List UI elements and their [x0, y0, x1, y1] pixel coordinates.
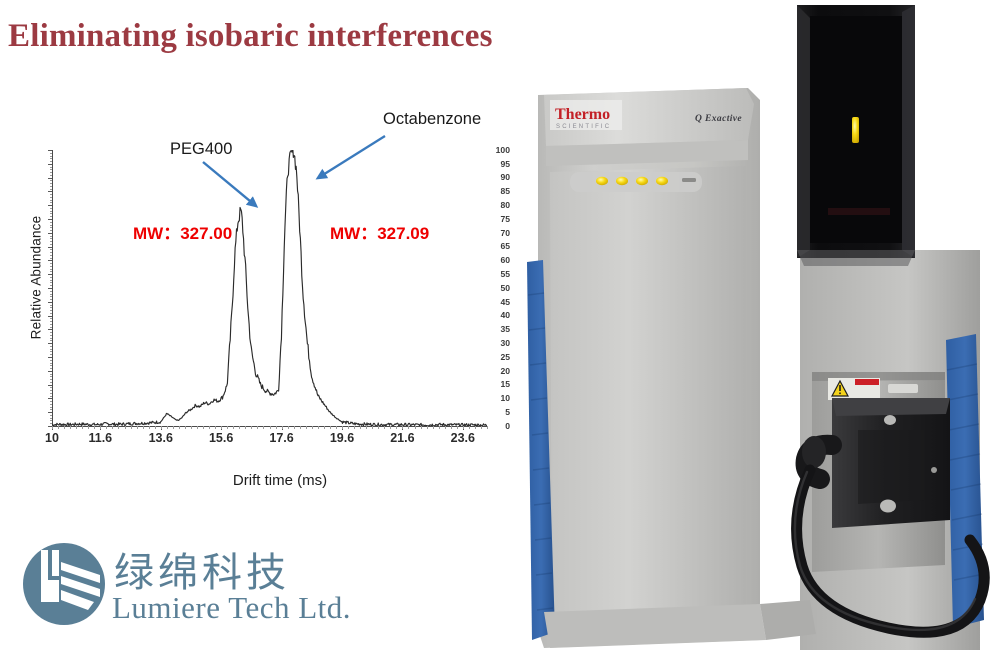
x-minor-tick	[149, 426, 150, 429]
y-tick-label: 45	[484, 298, 510, 307]
x-minor-tick	[336, 426, 337, 429]
x-minor-tick	[487, 426, 488, 429]
y-tick-label: 50	[484, 284, 510, 293]
x-tick-label: 15.6	[196, 431, 246, 445]
y-tick-label: 60	[484, 256, 510, 265]
x-minor-tick	[306, 426, 307, 429]
x-minor-tick	[402, 426, 403, 429]
x-minor-tick	[245, 426, 246, 429]
slide-canvas: Eliminating isobaric interferences Relat…	[0, 0, 1000, 650]
y-tick-label: 90	[484, 173, 510, 182]
x-minor-tick	[70, 426, 71, 429]
x-minor-tick	[197, 426, 198, 429]
x-tick-label: 17.6	[257, 431, 307, 445]
spectrum-trace	[52, 150, 487, 426]
x-minor-tick	[396, 426, 397, 429]
y-tick-label: 10	[484, 394, 510, 403]
y-tick-label: 25	[484, 353, 510, 362]
ion-source-bay	[802, 372, 950, 572]
x-minor-tick	[94, 426, 95, 429]
mw-value-octabenzone: MW：327.09	[330, 219, 429, 244]
x-minor-tick	[360, 426, 361, 429]
x-minor-tick	[125, 426, 126, 429]
x-minor-tick	[76, 426, 77, 429]
x-minor-tick	[82, 426, 83, 429]
x-minor-tick	[131, 426, 132, 429]
y-tick-label: 30	[484, 339, 510, 348]
x-minor-tick	[167, 426, 168, 429]
x-minor-tick	[233, 426, 234, 429]
tower-led-indicator	[852, 117, 859, 143]
x-minor-tick	[445, 426, 446, 429]
x-minor-tick	[143, 426, 144, 429]
x-minor-tick	[263, 426, 264, 429]
x-minor-tick	[179, 426, 180, 429]
y-tick-label: 15	[484, 380, 510, 389]
x-tick-label: 13.6	[136, 431, 186, 445]
x-minor-tick	[215, 426, 216, 429]
x-minor-tick	[318, 426, 319, 429]
x-minor-tick	[100, 426, 101, 429]
y-axis-label: Relative Abundance	[29, 198, 44, 358]
x-minor-tick	[312, 426, 313, 429]
thermo-brand-label: Thermo	[555, 107, 610, 123]
peak-label-peg400: PEG400	[170, 140, 232, 159]
x-minor-tick	[137, 426, 138, 429]
x-minor-tick	[451, 426, 452, 429]
x-minor-tick	[191, 426, 192, 429]
x-minor-tick	[221, 426, 222, 429]
x-minor-tick	[118, 426, 119, 429]
x-minor-tick	[203, 426, 204, 429]
x-minor-tick	[384, 426, 385, 429]
y-tick-label: 35	[484, 325, 510, 334]
x-minor-tick	[415, 426, 416, 429]
x-minor-tick	[282, 426, 283, 429]
x-minor-tick	[209, 426, 210, 429]
mw-value-peg400: MW：327.00	[133, 219, 232, 244]
x-minor-tick	[427, 426, 428, 429]
x-minor-tick	[288, 426, 289, 429]
y-tick-label: 75	[484, 215, 510, 224]
y-tick-label: 80	[484, 201, 510, 210]
y-tick-label: 55	[484, 270, 510, 279]
x-minor-tick	[475, 426, 476, 429]
x-minor-tick	[439, 426, 440, 429]
x-minor-tick	[251, 426, 252, 429]
x-minor-tick	[112, 426, 113, 429]
x-tick-label: 23.6	[438, 431, 488, 445]
x-minor-tick	[88, 426, 89, 429]
page-title: Eliminating isobaric interferences	[8, 18, 493, 55]
company-logo: 绿绵科技 Lumiere Tech Ltd.	[22, 538, 362, 634]
x-minor-tick	[366, 426, 367, 429]
x-tick-label: 10	[27, 431, 77, 445]
x-minor-tick	[408, 426, 409, 429]
ion-mobility-chart: Relative Abundance Drift time (ms) 05101…	[0, 120, 510, 510]
x-minor-tick	[239, 426, 240, 429]
x-minor-tick	[173, 426, 174, 429]
x-minor-tick	[481, 426, 482, 429]
y-tick-label: 70	[484, 229, 510, 238]
x-minor-tick	[294, 426, 295, 429]
x-minor-tick	[390, 426, 391, 429]
x-minor-tick	[64, 426, 65, 429]
x-tick-label: 19.6	[317, 431, 367, 445]
y-tick-label: 95	[484, 160, 510, 169]
x-minor-tick	[276, 426, 277, 429]
x-minor-tick	[227, 426, 228, 429]
x-minor-tick	[106, 426, 107, 429]
x-minor-tick	[300, 426, 301, 429]
y-tick-label: 85	[484, 187, 510, 196]
y-tick-label: 100	[484, 146, 510, 155]
x-minor-tick	[58, 426, 59, 429]
x-minor-tick	[324, 426, 325, 429]
x-minor-tick	[463, 426, 464, 429]
x-minor-tick	[161, 426, 162, 429]
y-tick-label: 5	[484, 408, 510, 417]
instrument-model-label: Q Exactive	[695, 114, 742, 124]
y-tick-label: 65	[484, 242, 510, 251]
x-minor-tick	[185, 426, 186, 429]
x-minor-tick	[469, 426, 470, 429]
x-minor-tick	[257, 426, 258, 429]
logo-english-name: Lumiere Tech Ltd.	[112, 590, 351, 626]
x-minor-tick	[378, 426, 379, 429]
peak-label-octabenzone: Octabenzone	[383, 110, 481, 129]
x-tick-label: 11.6	[75, 431, 125, 445]
lumiere-circle-mark-icon	[22, 542, 106, 626]
instrument-main-body	[538, 88, 760, 648]
x-tick-label: 21.6	[377, 431, 427, 445]
q-exactive-instrument-graphic	[510, 0, 1000, 650]
y-tick-label: 20	[484, 367, 510, 376]
x-minor-tick	[348, 426, 349, 429]
x-minor-tick	[52, 426, 53, 429]
x-axis-label: Drift time (ms)	[150, 472, 410, 489]
x-minor-tick	[372, 426, 373, 429]
y-tick-label: 40	[484, 311, 510, 320]
x-minor-tick	[354, 426, 355, 429]
x-minor-tick	[421, 426, 422, 429]
x-minor-tick	[155, 426, 156, 429]
x-minor-tick	[342, 426, 343, 429]
x-minor-tick	[270, 426, 271, 429]
x-minor-tick	[433, 426, 434, 429]
thermo-brand-sublabel: SCIENTIFIC	[556, 124, 611, 130]
instrument-tower	[797, 5, 915, 258]
instrument-photo: Thermo SCIENTIFIC Q Exactive	[510, 0, 1000, 650]
warning-label	[828, 378, 880, 400]
x-minor-tick	[330, 426, 331, 429]
x-minor-tick	[457, 426, 458, 429]
